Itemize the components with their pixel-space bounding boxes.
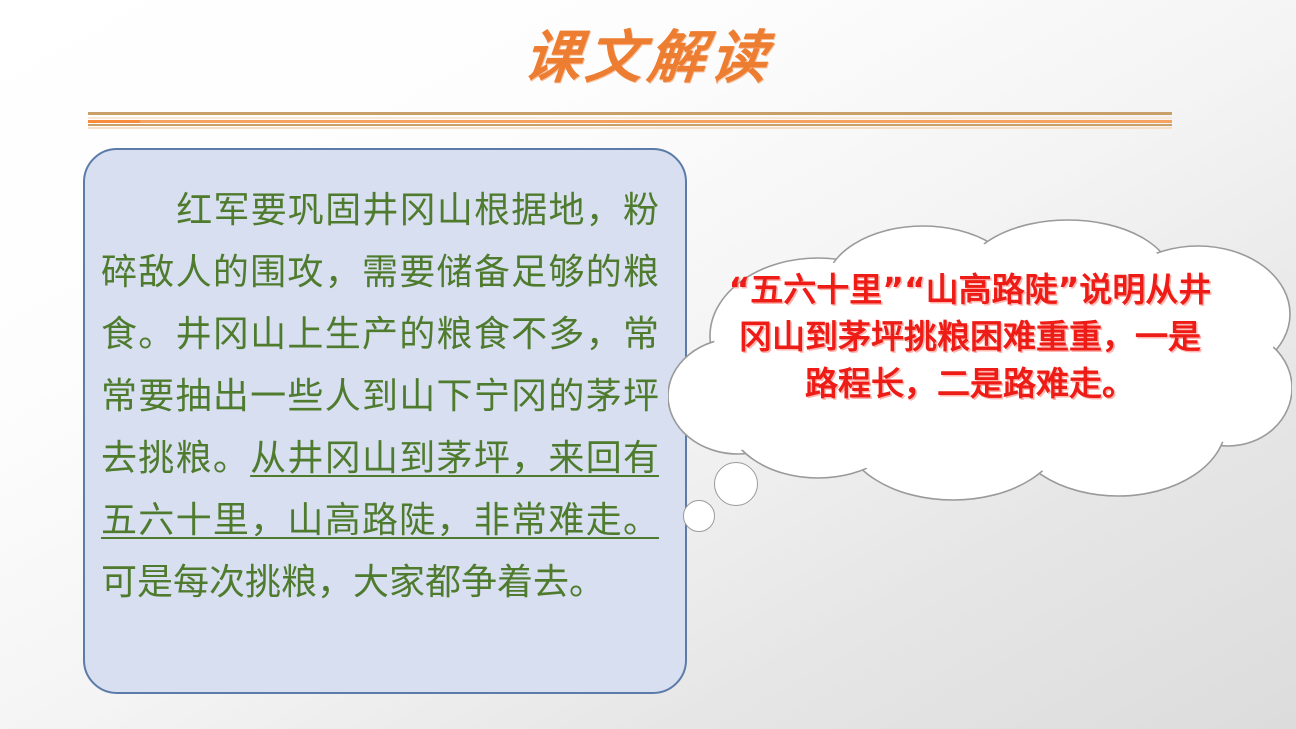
passage-part-1: 红军要巩固井冈山根据地，粉碎敌人的围攻，需要储备足够的粮食。井冈山上生产的粮食不… (101, 190, 659, 479)
thought-bubble-text: “五六十里”“山高路陡”说明从井冈山到茅坪挑粮困难重重，一是路程长，二是路难走。 (728, 266, 1212, 407)
page-title: 课文解读 (521, 28, 775, 88)
divider-rule-1 (88, 112, 1172, 115)
divider-rule-3 (88, 120, 1172, 123)
thought-trail-bubble-small (683, 500, 715, 532)
divider-rule-2 (88, 117, 1172, 119)
divider-rule-5 (88, 127, 1172, 129)
divider-accent (88, 120, 140, 123)
divider-rule-4 (88, 124, 1172, 126)
passage-text: 红军要巩固井冈山根据地，粉碎敌人的围攻，需要储备足够的粮食。井冈山上生产的粮食不… (101, 180, 659, 614)
title-divider (88, 112, 1172, 130)
passage-part-3: 可是每次挑粮，大家都争着去。 (101, 562, 605, 603)
thought-trail-bubble-large (714, 462, 758, 506)
title-block: 课文解读 (0, 28, 1296, 88)
passage-textbox: 红军要巩固井冈山根据地，粉碎敌人的围攻，需要储备足够的粮食。井冈山上生产的粮食不… (83, 148, 687, 694)
slide-canvas: 课文解读 红军要巩固井冈山根据地，粉碎敌人的围攻，需要储备足够的粮食。井冈山上生… (0, 0, 1296, 729)
